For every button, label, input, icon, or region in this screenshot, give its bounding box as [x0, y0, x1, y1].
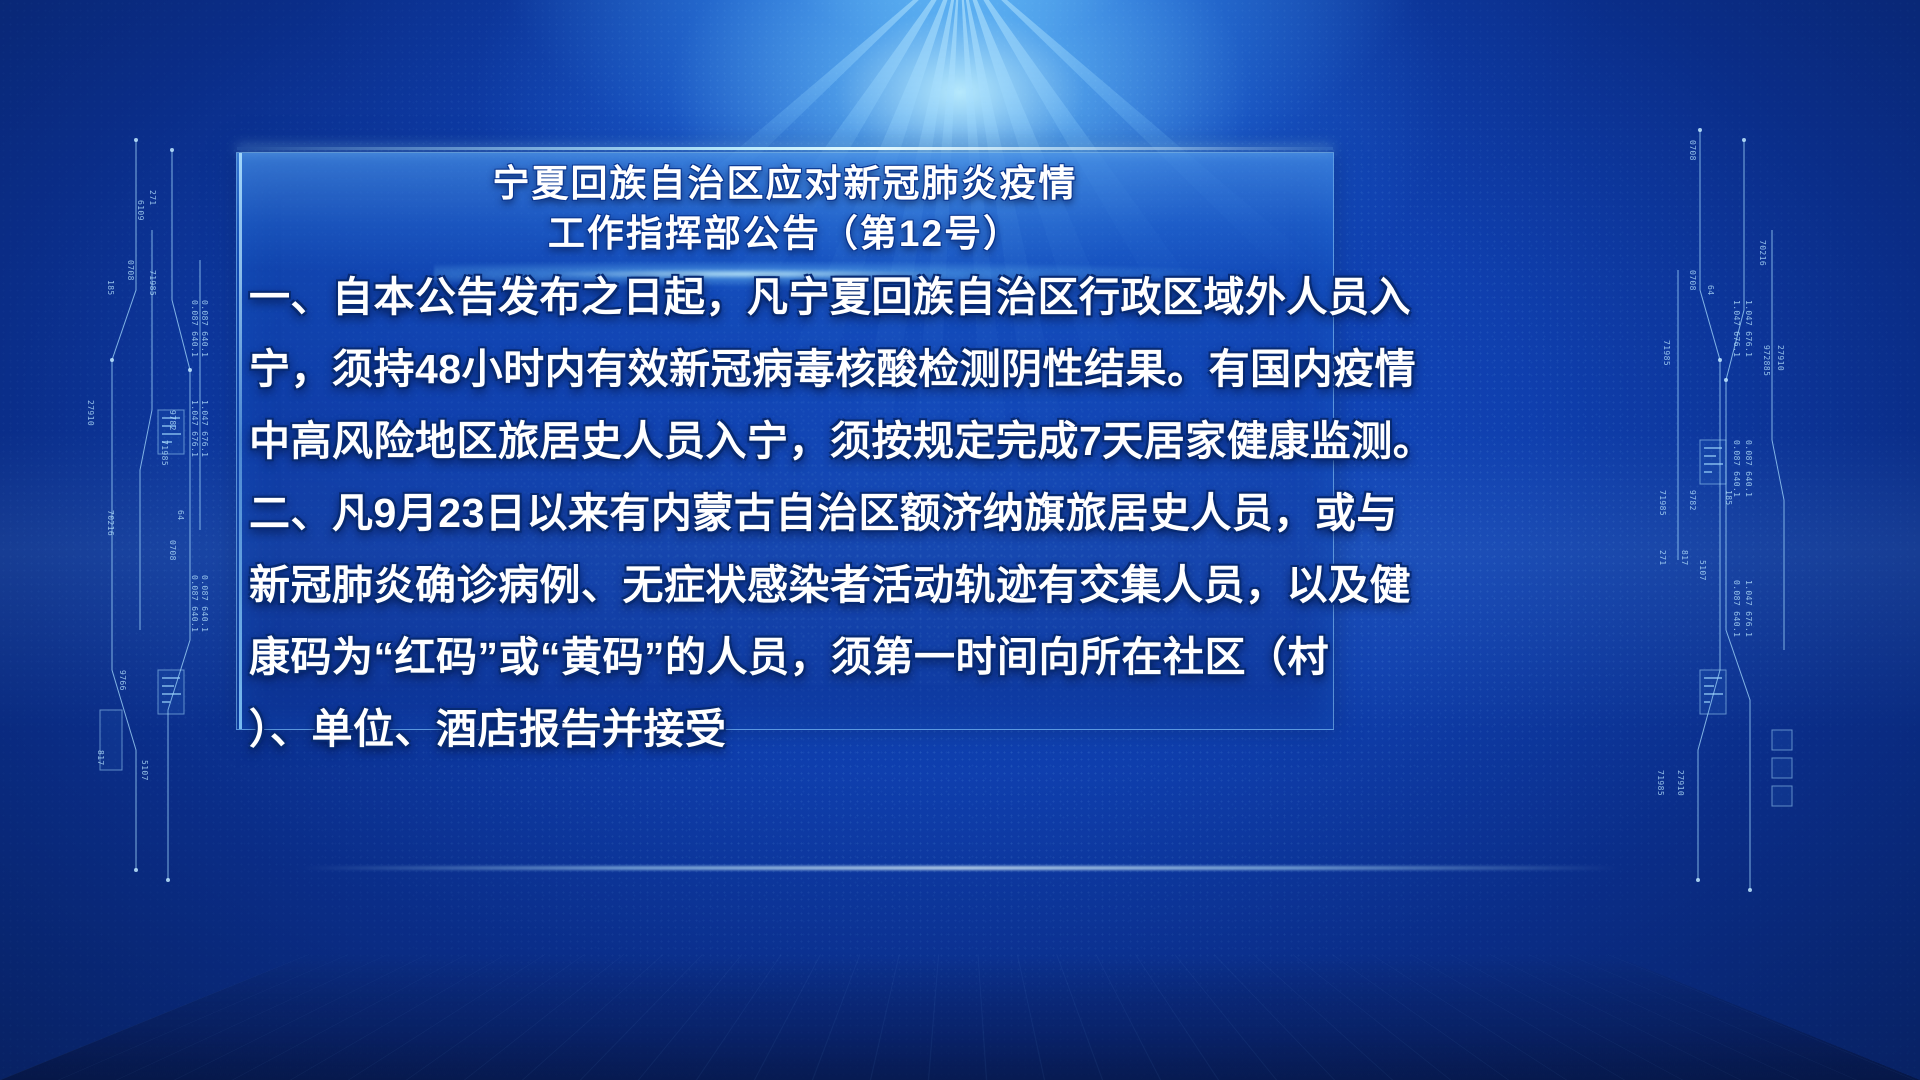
announcement-body: 一、自本公告发布之日起，凡宁夏回族自治区行政区域外人员入 宁，须持48小时内有效… [245, 261, 1325, 765]
body-line: 宁，须持48小时内有效新冠病毒核酸检测阴性结果。有国内疫情 [245, 333, 1325, 405]
title-line-2: 工作指挥部公告（第12号） [237, 209, 1333, 259]
bottom-light-sweep [300, 866, 1620, 870]
body-line: ）、单位、酒店报告并接受 [245, 693, 1325, 765]
announcement-title: 宁夏回族自治区应对新冠肺炎疫情 工作指挥部公告（第12号） [237, 159, 1333, 259]
body-line: 新冠肺炎确诊病例、无症状感染者活动轨迹有交集人员，以及健 [245, 549, 1325, 621]
body-line: 一、自本公告发布之日起，凡宁夏回族自治区行政区域外人员入 [245, 261, 1325, 333]
body-line: 中高风险地区旅居史人员入宁，须按规定完成7天居家健康监测。 [245, 405, 1325, 477]
broadcast-stage: 185 27910 70216 0708 9766 271 6109 9782 … [0, 0, 1920, 1080]
body-line: 康码为“红码”或“黄码”的人员，须第一时间向所在社区（村 [245, 621, 1325, 693]
announcement-panel: 宁夏回族自治区应对新冠肺炎疫情 工作指挥部公告（第12号） 一、自本公告发布之日… [236, 152, 1334, 730]
title-line-1: 宁夏回族自治区应对新冠肺炎疫情 [237, 159, 1333, 209]
body-line: 二、凡9月23日以来有内蒙古自治区额济纳旗旅居史人员，或与 [245, 477, 1325, 549]
panel-top-glow-line [237, 147, 1333, 150]
